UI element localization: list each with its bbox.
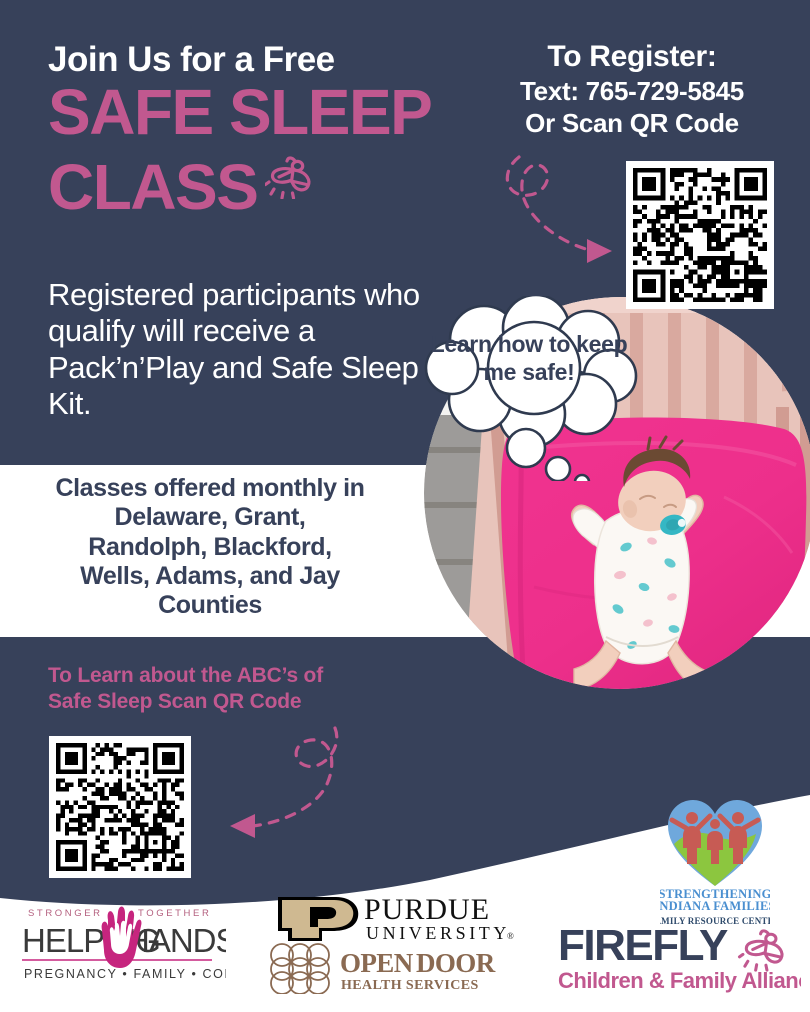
helping-hands-tagline: PREGNANCY • FAMILY • COMMUNITY xyxy=(24,967,226,981)
firefly-wordmark: FIREFLY xyxy=(558,922,728,970)
qr-code-register[interactable] xyxy=(626,161,774,309)
counties-block: Classes offered monthly in Delaware, Gra… xyxy=(10,474,410,620)
helping-hands-together-text: TOGETHER xyxy=(138,908,211,919)
thought-bubble: Learn how to keep me safe! xyxy=(424,296,654,481)
counties-line-3: Randolph, Blackford, xyxy=(10,533,410,562)
purdue-university-logo: PURDUE UNIVERSITY ® xyxy=(268,889,518,950)
open-door-health-services-logo: OPEN DOOR HEALTH SERVICES xyxy=(268,942,518,999)
headline-line-2: SAFE SLEEP xyxy=(48,83,468,142)
qr-code-abc[interactable] xyxy=(49,736,191,878)
sif-line-2: INDIANA FAMILIES xyxy=(660,899,770,910)
firefly-icon xyxy=(265,148,319,207)
firefly-children-and-family-alliance-logo: FIREFLY Children & Family Alliance xyxy=(556,922,801,999)
helping-hands-word-2: HANDS xyxy=(126,922,226,959)
lead-paragraph: Registered participants who qualify will… xyxy=(48,277,420,422)
purdue-word-1: PURDUE xyxy=(364,893,490,926)
firefly-tagline: Children & Family Alliance xyxy=(558,968,801,993)
abc-line-2: Safe Sleep Scan QR Code xyxy=(48,689,448,715)
abc-block: To Learn about the ABC’s of Safe Sleep S… xyxy=(48,663,448,714)
safe-sleep-class-flyer: Join Us for a Free SAFE SLEEP CLASS xyxy=(0,0,810,1012)
strengthening-indiana-families-logo: STRENGTHENING INDIANA FAMILIES FAMILY RE… xyxy=(660,790,770,929)
counties-line-4: Wells, Adams, and Jay xyxy=(10,562,410,591)
curly-dashed-arrow-right-icon xyxy=(494,152,644,282)
helping-hands-stronger-text: STRONGER xyxy=(28,908,103,919)
helping-hands-logo: STRONGER TOGETHER HELPING HANDS PREGNANC… xyxy=(8,900,226,993)
open-door-word-1: OPEN xyxy=(340,948,414,978)
open-door-circles-mark xyxy=(271,944,329,994)
headline-block: Join Us for a Free SAFE SLEEP CLASS xyxy=(48,42,468,217)
abc-line-1: To Learn about the ABC’s of xyxy=(48,663,448,689)
counties-line-5: Counties xyxy=(10,591,410,620)
headline-line-1: Join Us for a Free xyxy=(48,42,468,77)
register-scan-line: Or Scan QR Code xyxy=(472,108,792,139)
curly-dashed-arrow-left-icon xyxy=(185,726,345,856)
purdue-registered-mark: ® xyxy=(507,931,514,941)
open-door-subtitle: HEALTH SERVICES xyxy=(341,978,479,993)
counties-line-1: Classes offered monthly in xyxy=(10,474,410,503)
purdue-p-mark xyxy=(278,897,358,941)
register-block: To Register: Text: 765-729-5845 Or Scan … xyxy=(472,40,792,139)
register-phone-line: Text: 765-729-5845 xyxy=(472,76,792,107)
qr-code-register-image xyxy=(633,168,767,302)
headline-line-3-row: CLASS xyxy=(48,148,468,217)
firefly-icon xyxy=(739,931,782,970)
open-door-word-2: DOOR xyxy=(416,948,496,978)
heart-with-people-icon xyxy=(668,800,762,886)
partner-logos-row: STRONGER TOGETHER HELPING HANDS PREGNANC… xyxy=(0,880,810,1012)
purdue-word-2: UNIVERSITY xyxy=(366,923,510,943)
register-title: To Register: xyxy=(472,40,792,74)
qr-code-abc-image xyxy=(56,743,184,871)
counties-line-2: Delaware, Grant, xyxy=(10,503,410,532)
headline-line-3: CLASS xyxy=(48,158,257,217)
